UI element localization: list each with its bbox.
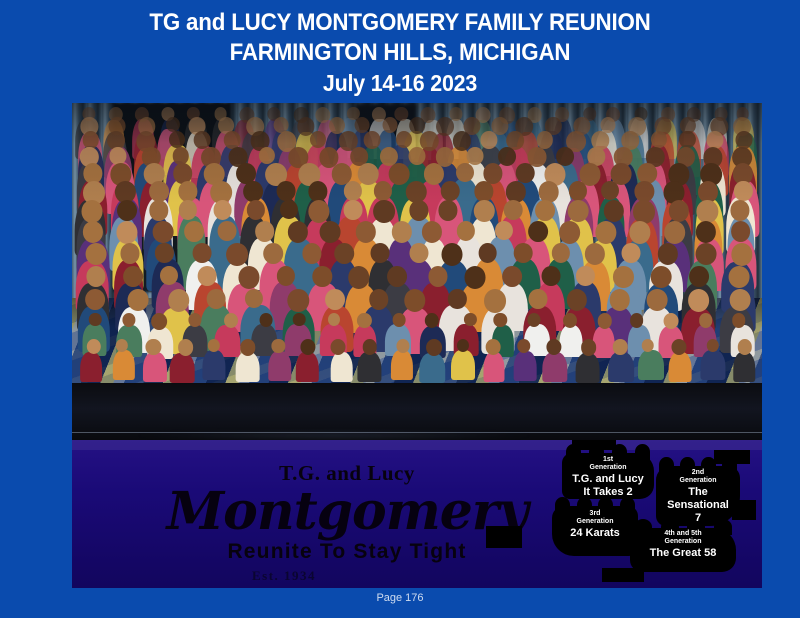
title-line-2: FARMINGTON HILLS, MICHIGAN bbox=[28, 38, 772, 68]
stage-floor bbox=[72, 383, 762, 440]
generation-label-1: 1st Generation T.G. and Lucy It Takes 2 bbox=[562, 456, 654, 498]
generation-label-2: 2nd Generation The Sensational 7 bbox=[656, 469, 740, 525]
title-line-1: TG and LUCY MONTGOMERY FAMILY REUNION bbox=[28, 8, 772, 38]
group-photo bbox=[72, 103, 762, 440]
generation-4-name-a: The Great 58 bbox=[630, 547, 736, 559]
generation-label-4: 4th and 5th Generation The Great 58 bbox=[630, 530, 736, 559]
title-line-3: July 14-16 2023 bbox=[28, 68, 772, 98]
generation-3-ordinal: 3rd bbox=[552, 510, 638, 518]
generation-2-word: Generation bbox=[656, 477, 740, 485]
established-text: Est. 1934 bbox=[252, 568, 316, 584]
generation-2-name-c: 7 bbox=[656, 512, 740, 524]
slide-canvas: TG and LUCY MONTGOMERY FAMILY REUNION FA… bbox=[0, 0, 800, 618]
stage-reflection bbox=[127, 433, 541, 439]
generation-4-word: Generation bbox=[630, 538, 736, 546]
generation-label-3: 3rd Generation 24 Karats bbox=[552, 510, 638, 539]
reunion-logo: T.G. and Lucy Montgomery Reunite To Stay… bbox=[132, 462, 562, 564]
generation-1-ordinal: 1st bbox=[562, 456, 654, 464]
hand-shape-accent-3 bbox=[486, 526, 522, 548]
generation-1-name-b: It Takes 2 bbox=[562, 486, 654, 498]
slide-title-block: TG and LUCY MONTGOMERY FAMILY REUNION FA… bbox=[0, 0, 800, 100]
generation-3-word: Generation bbox=[552, 518, 638, 526]
page-number: Page 176 bbox=[0, 592, 800, 604]
generation-2-name-b: Sensational bbox=[656, 499, 740, 511]
generation-3-name-a: 24 Karats bbox=[552, 527, 638, 539]
generation-1-word: Generation bbox=[562, 464, 654, 472]
hands-graphic: 1st Generation T.G. and Lucy It Takes 2 … bbox=[546, 440, 756, 588]
reunion-logo-banner: T.G. and Lucy Montgomery Reunite To Stay… bbox=[72, 440, 762, 588]
generation-2-name-a: The bbox=[656, 486, 740, 498]
generation-2-ordinal: 2nd bbox=[656, 469, 740, 477]
generation-4-ordinal: 4th and 5th bbox=[630, 530, 736, 538]
generation-1-name-a: T.G. and Lucy bbox=[562, 473, 654, 485]
